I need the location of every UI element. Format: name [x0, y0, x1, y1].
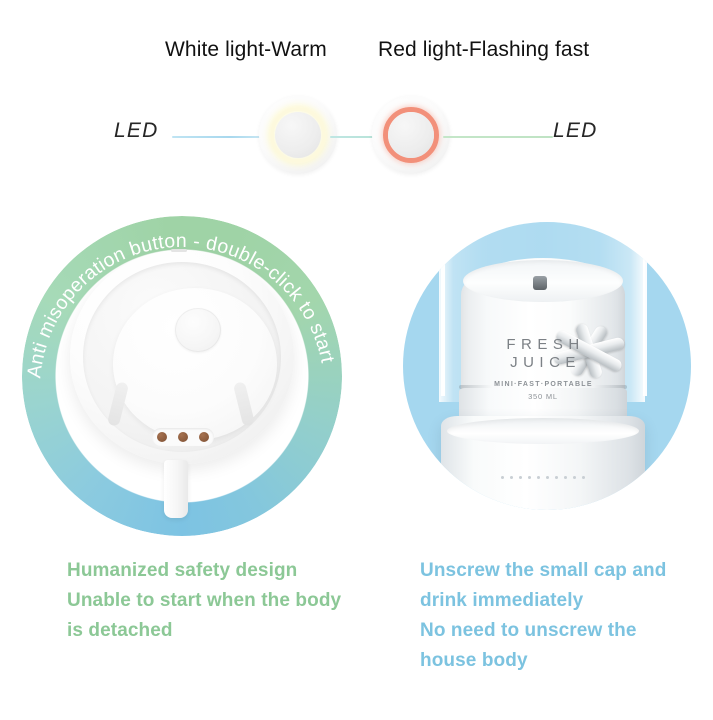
brand-line-2: JUICE	[461, 354, 625, 372]
caption-left-line: Unable to start when the body	[67, 586, 387, 616]
panel-unscrew-cap: FRESH JUICE MINI·FAST·PORTABLE 350 ML	[395, 216, 695, 524]
vent-dot	[537, 476, 540, 479]
caption-right-line: No need to unscrew the	[420, 616, 700, 646]
caption-left-line: Humanized safety design	[67, 556, 387, 586]
led-core-right	[388, 112, 434, 158]
led-connector-line-left	[172, 136, 268, 138]
led-button-white-warm	[259, 96, 337, 174]
panel-anti-misoperation: Anti misoperation button - double-click …	[22, 216, 342, 536]
led-label-right: LED	[553, 119, 597, 143]
vent-dot	[528, 476, 531, 479]
feature-captions: Humanized safety design Unable to start …	[0, 556, 713, 686]
blender-base-unit	[70, 250, 294, 464]
heading-red-light: Red light-Flashing fast	[378, 38, 589, 62]
contact-pin	[157, 432, 167, 442]
power-button[interactable]	[175, 308, 221, 352]
caption-left-line: is detached	[67, 616, 387, 646]
contact-pin-strip	[152, 428, 214, 446]
inner-cup: FRESH JUICE MINI·FAST·PORTABLE 350 ML	[461, 258, 625, 400]
led-connector-line-middle	[330, 136, 378, 138]
base-stem	[164, 460, 188, 518]
blade-hub	[533, 276, 547, 290]
contact-pin	[178, 432, 188, 442]
contact-pin	[199, 432, 209, 442]
led-core-left	[275, 112, 321, 158]
caption-left: Humanized safety design Unable to start …	[67, 556, 387, 646]
led-indicator-row: LED LED	[0, 96, 713, 178]
led-label-left: LED	[114, 119, 158, 143]
base-ring-lip	[447, 418, 639, 444]
caption-right-line: Unscrew the small cap and	[420, 556, 700, 586]
vent-dot	[573, 476, 576, 479]
brand-line-1: FRESH	[461, 336, 625, 354]
top-headings: White light-Warm Red light-Flashing fast	[0, 38, 713, 72]
vent-dot	[582, 476, 585, 479]
glass-edge-right	[643, 222, 647, 396]
caption-right: Unscrew the small cap and drink immediat…	[420, 556, 700, 676]
caption-right-line: house body	[420, 646, 700, 676]
vent-dot	[555, 476, 558, 479]
product-volume: 350 ML	[461, 392, 625, 401]
bottle-render: FRESH JUICE MINI·FAST·PORTABLE 350 ML	[403, 222, 691, 510]
feature-panels: Anti misoperation button - double-click …	[0, 208, 713, 548]
product-tagline: MINI·FAST·PORTABLE	[461, 381, 625, 388]
vent-dot	[510, 476, 513, 479]
led-connector-line-right	[443, 136, 553, 138]
vent-dot	[546, 476, 549, 479]
base-vent-row	[501, 474, 585, 480]
vent-dot	[501, 476, 504, 479]
vent-dot	[564, 476, 567, 479]
vent-dot	[519, 476, 522, 479]
product-branding: FRESH JUICE MINI·FAST·PORTABLE 350 ML	[461, 336, 625, 401]
caption-right-line: drink immediately	[420, 586, 700, 616]
led-button-red-flashing	[372, 96, 450, 174]
glass-edge-left	[441, 222, 445, 396]
base-notch	[171, 249, 187, 252]
heading-white-light: White light-Warm	[165, 38, 327, 62]
